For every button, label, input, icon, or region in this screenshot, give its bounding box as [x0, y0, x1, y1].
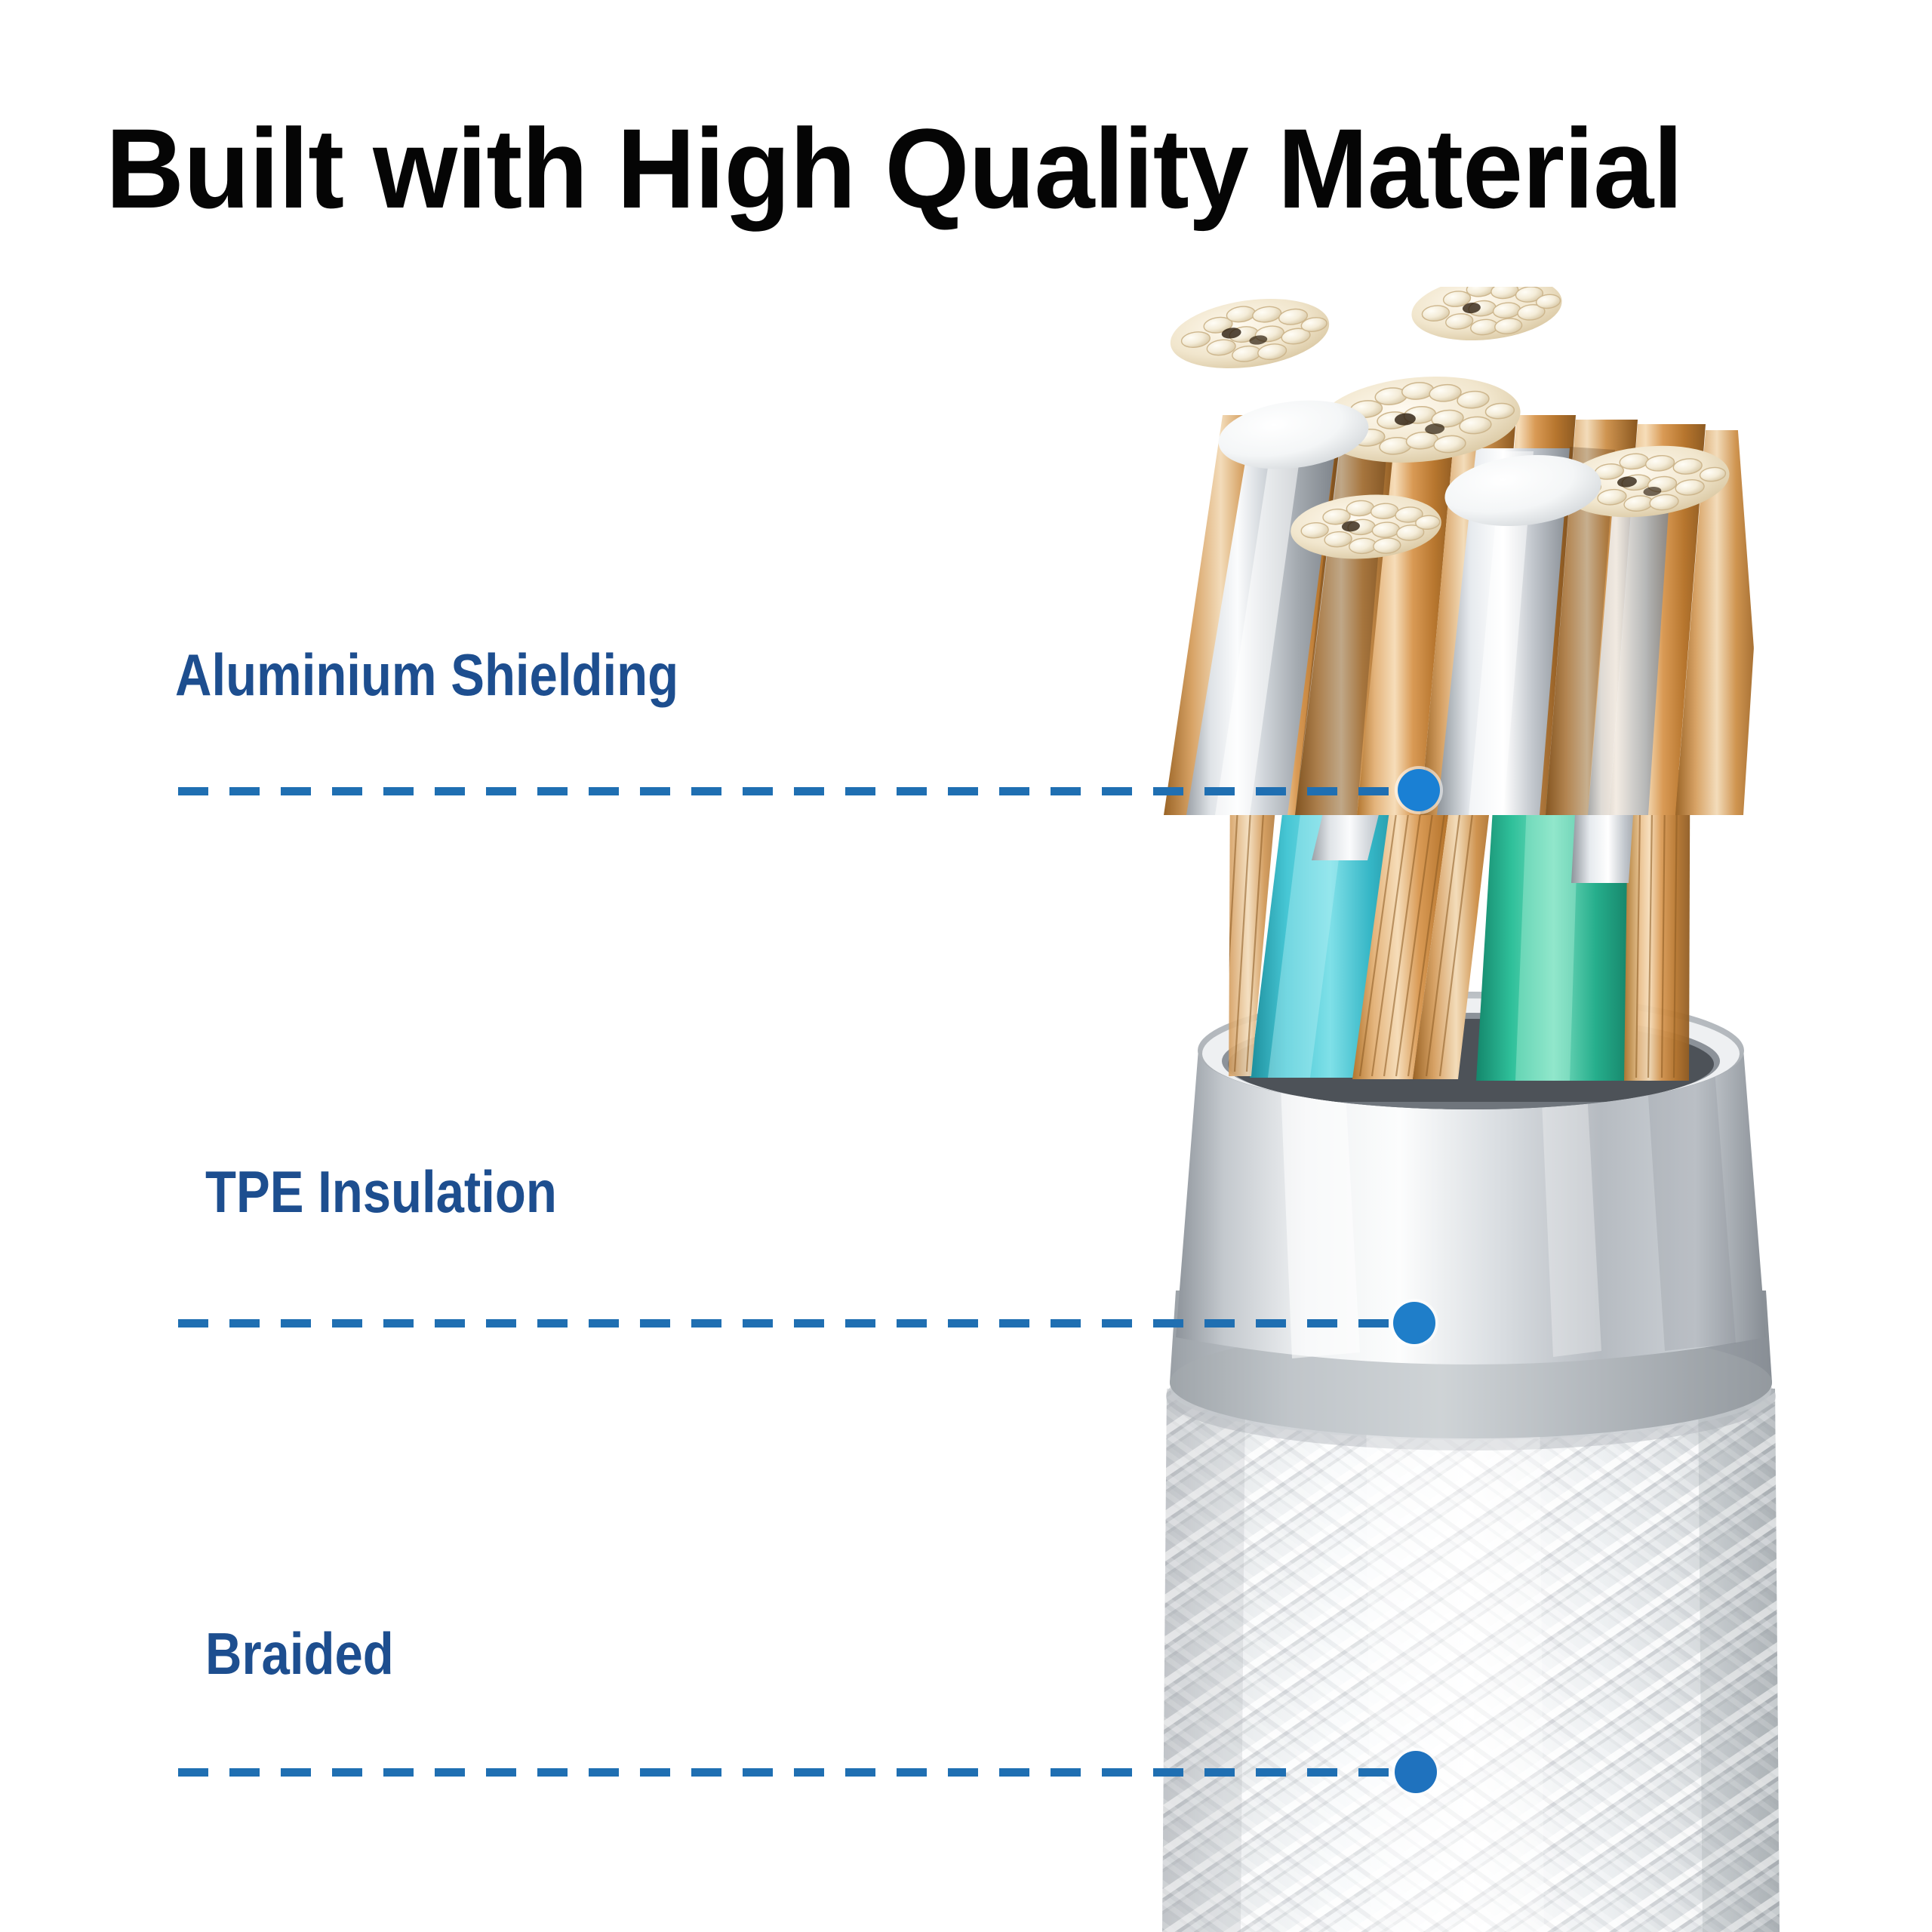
callout-label-tpe-insulation: TPE Insulation: [205, 1162, 557, 1221]
poster-canvas: Built with High Quality Material: [0, 0, 1932, 1932]
leader-dot-braided[interactable]: [1395, 1751, 1437, 1793]
copper-bundle-cut-face: [1166, 290, 1334, 378]
page-title: Built with High Quality Material: [106, 112, 1682, 225]
leader-line-tpe-insulation: [178, 1319, 1420, 1327]
callout-label-aluminium-shielding: Aluminium Shielding: [175, 645, 678, 704]
cable-svg: [1117, 287, 1841, 1932]
leader-line-braided: [178, 1768, 1422, 1777]
leader-dot-tpe-insulation[interactable]: [1393, 1302, 1435, 1344]
leader-dot-aluminium-shielding[interactable]: [1398, 769, 1440, 811]
callout-label-braided: Braided: [205, 1624, 394, 1683]
cable-cutaway-illustration: [1117, 287, 1841, 1932]
leader-line-aluminium-shielding: [178, 787, 1423, 795]
copper-bundle-cut-face: [1408, 287, 1565, 347]
